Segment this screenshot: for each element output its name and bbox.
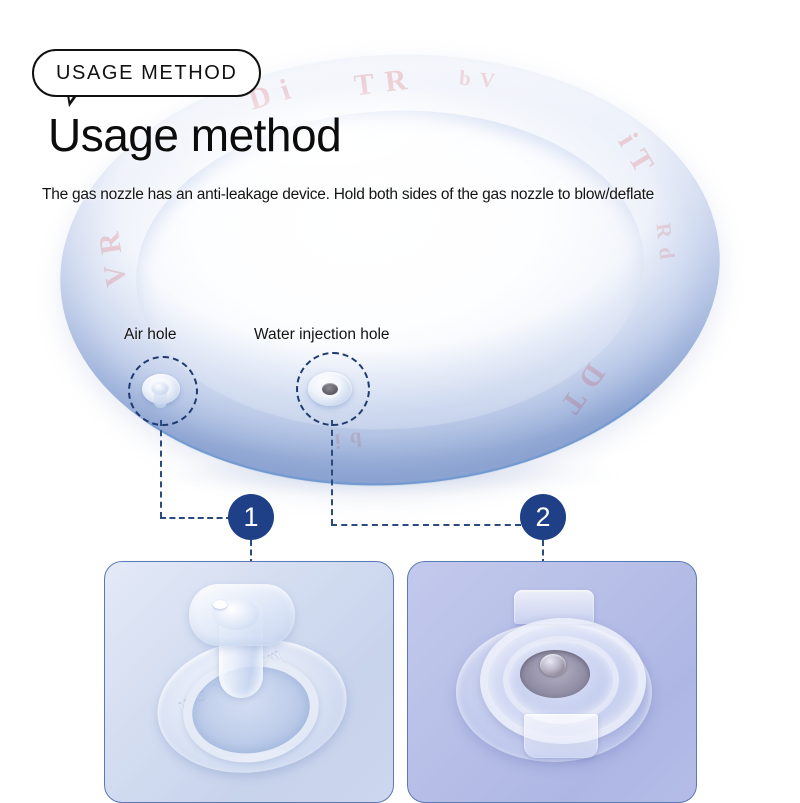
leader-line-air-horizontal	[160, 517, 232, 519]
leader-line-air-vertical	[160, 420, 162, 518]
photo-panel-air-valve: MADE IN CHI	[104, 561, 394, 803]
step-badge-2: 2	[520, 494, 566, 540]
air-hole-highlight-circle	[128, 356, 198, 426]
air-valve-opening	[213, 600, 227, 609]
usage-method-badge-label: USAGE METHOD	[56, 63, 237, 83]
water-valve-strap-bottom	[524, 714, 598, 758]
leader-line-water-vertical	[331, 420, 333, 525]
air-valve-cap	[189, 584, 295, 646]
leader-line-water-horizontal	[331, 524, 521, 526]
water-valve-ball-seal	[540, 654, 566, 676]
photo-panel-water-valve	[407, 561, 697, 803]
air-hole-label: Air hole	[124, 326, 177, 344]
step-badge-1: 1	[228, 494, 274, 540]
water-injection-hole-highlight-circle	[296, 352, 370, 426]
inflatable-oval-body: D i T R b V i T R d D T b i V R	[49, 38, 731, 502]
water-injection-hole-label: Water injection hole	[254, 326, 390, 344]
usage-method-badge: USAGE METHOD	[32, 49, 261, 97]
page-subtitle: The gas nozzle has an anti-leakage devic…	[42, 186, 742, 205]
page-title: Usage method	[48, 112, 341, 158]
